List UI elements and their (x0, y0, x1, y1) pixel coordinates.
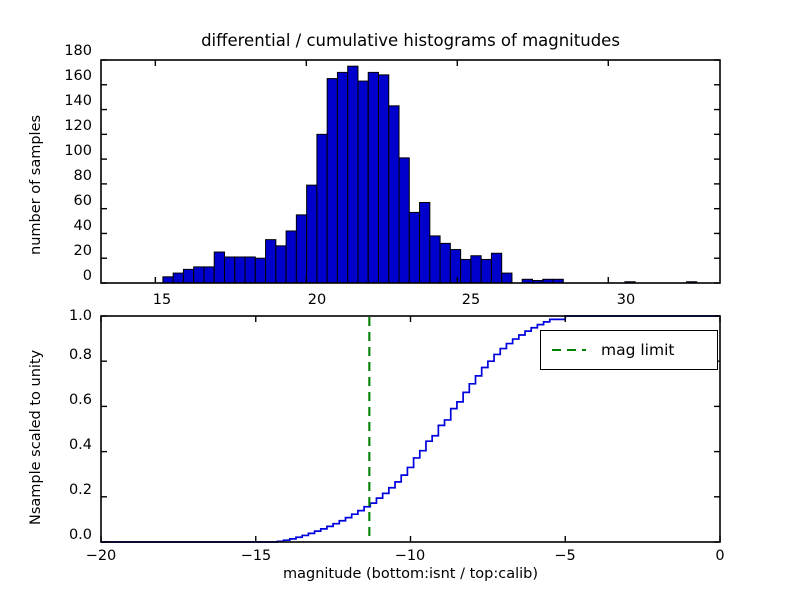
histogram-bar (245, 257, 255, 283)
histogram-bar (389, 106, 399, 283)
figure-canvas: differential / cumulative histograms of … (0, 0, 800, 600)
top-panel-frame (101, 60, 720, 283)
bottom-ytick-00: 0.0 (40, 527, 92, 543)
histogram-bar (173, 273, 183, 283)
top-ytick-0: 0 (44, 268, 92, 284)
histogram-bar (296, 215, 306, 283)
histogram-bar (440, 243, 450, 283)
histogram-bar (686, 282, 696, 283)
histogram-bar (214, 252, 224, 283)
bottom-xtick-m15: −15 (231, 548, 281, 564)
histogram-bar (491, 253, 501, 283)
histogram-bar (163, 277, 173, 283)
bottom-ytick-06: 0.6 (40, 392, 92, 408)
legend: mag limit (540, 330, 718, 370)
top-ytick-80: 80 (44, 168, 92, 184)
top-ytick-180: 180 (44, 43, 92, 59)
histogram-bar (286, 231, 296, 283)
histogram-bar (378, 75, 388, 283)
top-ytick-20: 20 (44, 243, 92, 259)
histogram-bar (409, 212, 419, 283)
histogram-bar (522, 279, 532, 283)
histogram-bar (276, 246, 286, 283)
top-panel-ylabel: number of samples (28, 115, 44, 255)
histogram-bar (461, 259, 471, 283)
histogram-bar (327, 79, 337, 283)
bottom-panel-xlabel: magnitude (bottom:isnt / top:calib) (101, 566, 720, 582)
bottom-panel-plot-area (0, 0, 800, 600)
histogram-bar (481, 259, 491, 283)
top-xtick-25: 25 (451, 292, 491, 308)
histogram-bar (532, 281, 542, 283)
histogram-bar (317, 134, 327, 283)
histogram-bar (194, 267, 204, 283)
top-ytick-140: 140 (44, 93, 92, 109)
histogram-bar (543, 279, 553, 283)
bottom-xtick-m10: −10 (385, 548, 435, 564)
histogram-bar (337, 72, 347, 283)
histogram-bar (430, 236, 440, 283)
bottom-ytick-02: 0.2 (40, 482, 92, 498)
top-panel-ticks (101, 60, 720, 283)
histogram-bar (420, 202, 430, 283)
legend-line-swatch (551, 344, 587, 356)
top-panel-plot-area (0, 0, 800, 600)
top-ytick-160: 160 (44, 68, 92, 84)
bottom-ytick-04: 0.4 (40, 437, 92, 453)
top-ytick-40: 40 (44, 218, 92, 234)
histogram-bar (502, 273, 512, 283)
histogram-bars (163, 66, 697, 283)
bottom-ytick-08: 0.8 (40, 347, 92, 363)
top-ytick-120: 120 (44, 118, 92, 134)
histogram-bar (204, 267, 214, 283)
histogram-bar (450, 250, 460, 283)
page-title: differential / cumulative histograms of … (101, 31, 720, 50)
histogram-bar (266, 240, 276, 283)
top-ytick-60: 60 (44, 193, 92, 209)
histogram-bar (183, 269, 193, 283)
histogram-bar (368, 72, 378, 283)
histogram-bar (225, 257, 235, 283)
bottom-xtick-m20: −20 (76, 548, 126, 564)
histogram-bar (255, 258, 265, 283)
top-ytick-100: 100 (44, 143, 92, 159)
histogram-bar (471, 256, 481, 283)
legend-label-mag-limit: mag limit (601, 341, 674, 359)
bottom-xtick-0: 0 (695, 548, 745, 564)
top-xtick-20: 20 (297, 292, 337, 308)
histogram-bar (553, 279, 563, 283)
histogram-bar (625, 282, 635, 283)
histogram-bar (358, 81, 368, 283)
top-xtick-15: 15 (142, 292, 182, 308)
top-xtick-30: 30 (606, 292, 646, 308)
histogram-bar (307, 185, 317, 283)
bottom-ytick-10: 1.0 (40, 308, 92, 324)
histogram-bar (399, 158, 409, 283)
bottom-xtick-m5: −5 (540, 548, 590, 564)
histogram-bar (348, 66, 358, 283)
histogram-bar (235, 257, 245, 283)
